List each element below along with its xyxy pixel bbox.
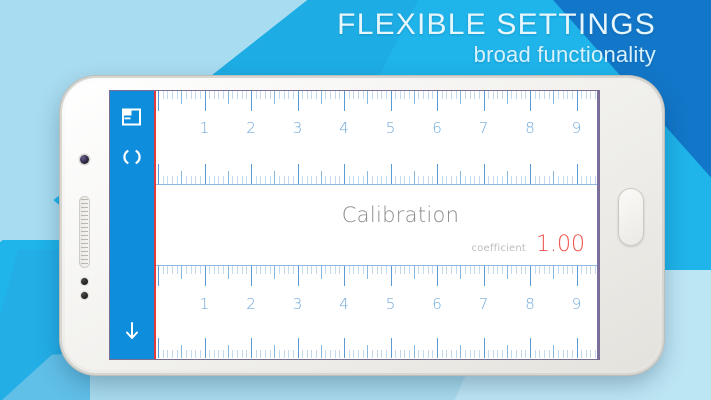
ruler-tick	[525, 91, 526, 99]
ruler-tick	[553, 345, 554, 358]
ruler-tick	[195, 266, 196, 274]
ruler-tick	[502, 176, 503, 184]
ruler-tick	[158, 164, 159, 184]
ruler-tick	[321, 266, 322, 279]
ruler-tick	[214, 91, 215, 99]
ruler-tick	[437, 266, 438, 286]
ruler-tick	[167, 266, 168, 274]
ruler-tick	[404, 176, 405, 184]
ruler-ticks-top-lower	[156, 162, 599, 184]
ruler-tick	[298, 266, 299, 286]
ruler-tick	[177, 350, 178, 358]
ruler-tick	[558, 91, 559, 99]
ruler-tick	[590, 350, 591, 358]
ruler-tick	[372, 91, 373, 99]
ruler-tick	[567, 350, 568, 358]
ruler-tick	[163, 91, 164, 99]
coefficient-value[interactable]: 1.00	[536, 232, 585, 257]
ruler-tick	[395, 91, 396, 99]
ruler-tick	[335, 350, 336, 358]
ruler-tick	[404, 350, 405, 358]
ruler-tick	[316, 176, 317, 184]
ruler-tick	[339, 350, 340, 358]
ruler-number: 1	[200, 295, 210, 313]
ruler-tick	[223, 266, 224, 274]
ruler-tick	[586, 266, 587, 274]
phone-screen: 123456789 Calibration coefficient 1.00	[110, 91, 599, 359]
ruler-tick	[293, 176, 294, 184]
ruler-tick	[493, 266, 494, 274]
ruler-tick	[232, 350, 233, 358]
ruler-tick	[325, 350, 326, 358]
ruler-tick	[349, 266, 350, 274]
ruler-tick	[446, 91, 447, 99]
ruler-tick	[525, 176, 526, 184]
ruler-tick	[423, 266, 424, 274]
ruler-tick	[414, 345, 415, 358]
ruler-tick	[158, 266, 159, 286]
ruler-tick	[223, 91, 224, 99]
ruler-tick	[493, 176, 494, 184]
ruler-tick	[205, 164, 206, 184]
ruler-tick	[460, 266, 461, 279]
ruler-tick	[418, 91, 419, 99]
ruler-tick	[298, 164, 299, 184]
ruler-tick	[251, 266, 252, 286]
ruler-tick	[214, 350, 215, 358]
ruler-tick	[363, 350, 364, 358]
ruler-tick	[395, 176, 396, 184]
ruler-tick	[432, 350, 433, 358]
ruler-tick	[535, 176, 536, 184]
ruler-tick	[195, 176, 196, 184]
ruler-tick	[414, 171, 415, 184]
ruler-tick	[428, 350, 429, 358]
ruler-ticks-top-upper	[156, 91, 599, 113]
ruler-tick	[595, 350, 596, 358]
coefficient-label: coefficient	[472, 243, 526, 254]
ruler-tick	[181, 171, 182, 184]
ruler-number: 3	[293, 119, 303, 137]
ruler-tick	[553, 91, 554, 104]
arrow-down-icon	[123, 321, 141, 341]
ruler-tick	[391, 338, 392, 358]
ruler-tick	[511, 350, 512, 358]
ruler-tick	[172, 350, 173, 358]
ruler-tick	[465, 91, 466, 99]
ruler-tick	[191, 176, 192, 184]
ruler-tick	[493, 91, 494, 99]
ruler-number: 7	[479, 119, 489, 137]
ruler-tick	[349, 91, 350, 99]
sidebar-item-panel-toggle[interactable]	[110, 97, 154, 137]
ruler-tick	[400, 266, 401, 274]
ruler-tick	[437, 338, 438, 358]
ruler-tick	[339, 176, 340, 184]
ruler-tick	[432, 176, 433, 184]
ruler-tick	[423, 91, 424, 99]
ruler-tick	[386, 176, 387, 184]
ruler-tick	[321, 345, 322, 358]
ruler-tick	[446, 176, 447, 184]
ruler-tick	[400, 176, 401, 184]
ruler-tick	[516, 350, 517, 358]
ruler-tick	[246, 91, 247, 99]
ruler-tick	[409, 350, 410, 358]
ruler-tick	[293, 91, 294, 99]
ruler-tick	[330, 91, 331, 99]
home-button[interactable]	[618, 188, 644, 246]
ruler-tick	[507, 171, 508, 184]
ruler-tick	[284, 176, 285, 184]
ruler-tick	[539, 91, 540, 99]
ruler-tick	[549, 350, 550, 358]
ruler-tick	[158, 338, 159, 358]
ruler-tick	[298, 91, 299, 111]
ruler-tick	[167, 350, 168, 358]
ruler-tick	[256, 91, 257, 99]
ruler-tick	[470, 350, 471, 358]
ruler-tick	[451, 266, 452, 274]
ruler-tick	[549, 176, 550, 184]
ruler-tick	[395, 266, 396, 274]
ruler-tick	[191, 91, 192, 99]
ruler-tick	[260, 91, 261, 99]
ruler-tick	[493, 350, 494, 358]
ruler-tick	[218, 176, 219, 184]
ruler-tick	[242, 350, 243, 358]
ruler-tick	[353, 176, 354, 184]
ruler-tick	[400, 91, 401, 99]
ruler-tick	[595, 176, 596, 184]
ruler-tick	[577, 266, 578, 286]
ruler-tick	[530, 338, 531, 358]
ruler-tick	[507, 345, 508, 358]
ruler-tick	[353, 266, 354, 274]
ruler-tick	[256, 266, 257, 274]
ruler-tick	[335, 91, 336, 99]
ruler-tick	[511, 176, 512, 184]
ruler-number: 6	[432, 119, 442, 137]
ruler-tick	[409, 176, 410, 184]
ruler-tick	[577, 91, 578, 111]
ruler-tick	[279, 266, 280, 274]
ruler-tick	[549, 91, 550, 99]
ruler-tick	[237, 91, 238, 99]
ruler-number: 3	[293, 295, 303, 313]
ruler-tick	[516, 176, 517, 184]
ruler-tick	[544, 266, 545, 274]
ruler-tick	[544, 350, 545, 358]
ruler-tick	[507, 91, 508, 104]
ruler-tick	[530, 266, 531, 286]
ruler-tick	[316, 350, 317, 358]
ruler-tick	[246, 266, 247, 274]
ruler-tick	[167, 91, 168, 99]
ruler-tick	[270, 176, 271, 184]
ruler-tick	[200, 176, 201, 184]
ruler-tick	[228, 91, 229, 104]
ruler-tick	[330, 266, 331, 274]
ruler-tick	[386, 266, 387, 274]
ruler-tick	[497, 266, 498, 274]
ruler-tick	[349, 176, 350, 184]
ruler-tick	[544, 91, 545, 99]
ruler-tick	[246, 176, 247, 184]
ruler-tick	[311, 266, 312, 274]
ruler-tick	[451, 176, 452, 184]
ruler-tick	[260, 350, 261, 358]
ruler-tick	[172, 91, 173, 99]
proximity-sensor-icon	[81, 278, 88, 285]
ruler-tick	[274, 266, 275, 279]
ruler-tick	[200, 350, 201, 358]
ruler-tick	[191, 350, 192, 358]
ruler-tick	[391, 164, 392, 184]
ruler-tick	[418, 266, 419, 274]
ruler-tick	[507, 266, 508, 279]
ruler-tick	[195, 91, 196, 99]
ruler-tick	[265, 350, 266, 358]
ruler-tick	[205, 91, 206, 111]
ruler-tick	[209, 350, 210, 358]
ruler-tick	[521, 91, 522, 99]
ruler-tick	[497, 176, 498, 184]
ruler-tick	[284, 91, 285, 99]
ruler-tick	[437, 164, 438, 184]
ruler-tick	[404, 266, 405, 274]
coefficient-row[interactable]: coefficient 1.00	[472, 232, 585, 257]
ruler-tick	[595, 266, 596, 274]
ruler-tick	[302, 266, 303, 274]
ruler-tick	[539, 176, 540, 184]
ruler-tick	[205, 266, 206, 286]
ruler-tick	[544, 176, 545, 184]
ruler-tick	[590, 91, 591, 99]
ruler-tick	[186, 266, 187, 274]
ruler-tick	[284, 266, 285, 274]
ruler-tick	[288, 176, 289, 184]
ruler-tick	[502, 350, 503, 358]
ruler-tick	[237, 350, 238, 358]
ruler-tick	[223, 176, 224, 184]
ruler-tick	[223, 350, 224, 358]
ruler-tick	[442, 91, 443, 99]
ruler-tick	[484, 338, 485, 358]
ruler-tick	[590, 266, 591, 274]
ruler-number: 7	[479, 295, 489, 313]
ruler-tick	[595, 91, 596, 99]
ruler-tick	[232, 176, 233, 184]
ruler-tick	[488, 266, 489, 274]
ruler-tick	[418, 350, 419, 358]
ruler-tick	[251, 91, 252, 111]
ruler-number: 5	[386, 119, 396, 137]
ruler-tick	[563, 350, 564, 358]
ruler-ticks-bottom-lower	[156, 336, 599, 358]
ruler-tick	[284, 350, 285, 358]
app-sidebar	[110, 91, 154, 359]
ruler-tick	[442, 266, 443, 274]
ruler-tick	[195, 350, 196, 358]
ruler-tick	[535, 91, 536, 99]
ruler-number: 8	[525, 295, 535, 313]
ruler-tick	[325, 266, 326, 274]
ruler-tick	[265, 91, 266, 99]
ruler-tick	[200, 91, 201, 99]
ruler-tick	[465, 350, 466, 358]
ruler-tick	[367, 91, 368, 104]
ruler-tick	[395, 350, 396, 358]
ruler-tick	[363, 266, 364, 274]
ruler-tick	[358, 176, 359, 184]
ruler-tick	[442, 176, 443, 184]
ruler-tick	[586, 350, 587, 358]
ruler-surface[interactable]: 123456789 Calibration coefficient 1.00	[156, 91, 599, 359]
ruler-tick	[335, 266, 336, 274]
ruler-tick	[321, 91, 322, 104]
ruler-tick	[228, 171, 229, 184]
screenshot-stage: FLEXIBLE SETTINGS broad functionality 12…	[0, 0, 711, 400]
ruler-band-bottom[interactable]: 123456789	[156, 265, 599, 359]
ruler-tick	[581, 91, 582, 99]
ruler-tick	[200, 266, 201, 274]
ruler-tick	[497, 91, 498, 99]
ruler-tick	[353, 91, 354, 99]
ruler-tick	[391, 266, 392, 286]
calibration-panel[interactable]: Calibration coefficient 1.00	[202, 185, 599, 265]
ruler-tick	[218, 91, 219, 99]
ruler-tick	[567, 176, 568, 184]
ruler-tick	[311, 91, 312, 99]
ruler-tick	[330, 350, 331, 358]
ruler-tick	[246, 350, 247, 358]
ruler-tick	[274, 345, 275, 358]
ruler-tick	[567, 91, 568, 99]
ruler-tick	[288, 266, 289, 274]
ruler-tick	[567, 266, 568, 274]
ruler-tick	[511, 266, 512, 274]
ruler-tick	[572, 91, 573, 99]
ruler-tick	[456, 91, 457, 99]
ruler-tick	[279, 176, 280, 184]
ruler-tick	[181, 91, 182, 104]
ruler-tick	[558, 176, 559, 184]
ruler-tick	[558, 350, 559, 358]
ruler-tick	[363, 176, 364, 184]
ruler-tick	[325, 176, 326, 184]
ruler-tick	[497, 350, 498, 358]
rotate-icon	[122, 147, 142, 167]
ruler-tick	[344, 91, 345, 111]
front-camera-icon	[80, 155, 89, 164]
ruler-tick	[474, 176, 475, 184]
ruler-tick	[460, 171, 461, 184]
ruler-tick	[470, 266, 471, 274]
ruler-tick	[484, 266, 485, 286]
ruler-tick	[409, 266, 410, 274]
ruler-band-top[interactable]: 123456789	[156, 91, 599, 185]
ruler-tick	[260, 176, 261, 184]
ruler-tick	[251, 338, 252, 358]
ruler-tick	[330, 176, 331, 184]
ruler-tick	[502, 266, 503, 274]
ruler-tick	[372, 350, 373, 358]
ruler-tick	[474, 266, 475, 274]
ruler-tick	[381, 176, 382, 184]
ruler-tick	[228, 266, 229, 279]
ruler-tick	[539, 350, 540, 358]
ruler-number: 2	[246, 119, 256, 137]
ruler-tick	[437, 91, 438, 111]
ruler-tick	[353, 350, 354, 358]
ruler-tick	[465, 266, 466, 274]
sidebar-item-rotate[interactable]	[110, 137, 154, 177]
ruler-tick	[256, 350, 257, 358]
ruler-tick	[321, 171, 322, 184]
ruler-tick	[251, 164, 252, 184]
ruler-tick	[316, 91, 317, 99]
ruler-tick	[400, 350, 401, 358]
ruler-tick	[307, 350, 308, 358]
ruler-tick	[344, 266, 345, 286]
ruler-tick	[530, 91, 531, 111]
ruler-tick	[339, 91, 340, 99]
ruler-tick	[521, 266, 522, 274]
ruler-tick	[218, 266, 219, 274]
ruler-tick	[432, 266, 433, 274]
ruler-tick	[377, 350, 378, 358]
ruler-tick	[549, 266, 550, 274]
ruler-numbers-bottom: 123456789	[156, 295, 599, 325]
ruler-tick	[516, 91, 517, 99]
ruler-tick	[479, 350, 480, 358]
ruler-tick	[256, 176, 257, 184]
ruler-tick	[181, 266, 182, 279]
ruler-tick	[358, 266, 359, 274]
ruler-tick	[302, 350, 303, 358]
ruler-tick	[293, 266, 294, 274]
ruler-tick	[311, 350, 312, 358]
ruler-tick	[409, 91, 410, 99]
ruler-tick	[432, 91, 433, 99]
ruler-number: 9	[572, 119, 582, 137]
ruler-tick	[186, 176, 187, 184]
ruler-tick	[418, 176, 419, 184]
ruler-tick	[237, 266, 238, 274]
ruler-tick	[386, 91, 387, 99]
ruler-tick	[530, 164, 531, 184]
ruler-tick	[339, 266, 340, 274]
sidebar-item-collapse[interactable]	[110, 311, 154, 351]
ruler-number: 5	[386, 295, 396, 313]
ruler-tick	[553, 171, 554, 184]
ruler-tick	[446, 350, 447, 358]
ruler-tick	[316, 266, 317, 274]
ruler-tick	[372, 176, 373, 184]
ruler-tick	[521, 176, 522, 184]
ruler-tick	[479, 266, 480, 274]
ruler-tick	[293, 350, 294, 358]
ruler-number: 8	[525, 119, 535, 137]
ruler-tick	[586, 91, 587, 99]
ruler-tick	[414, 266, 415, 279]
ruler-tick	[265, 176, 266, 184]
ruler-tick	[367, 266, 368, 279]
calibration-title: Calibration	[342, 203, 460, 227]
ruler-tick	[377, 91, 378, 99]
ruler-tick	[270, 266, 271, 274]
